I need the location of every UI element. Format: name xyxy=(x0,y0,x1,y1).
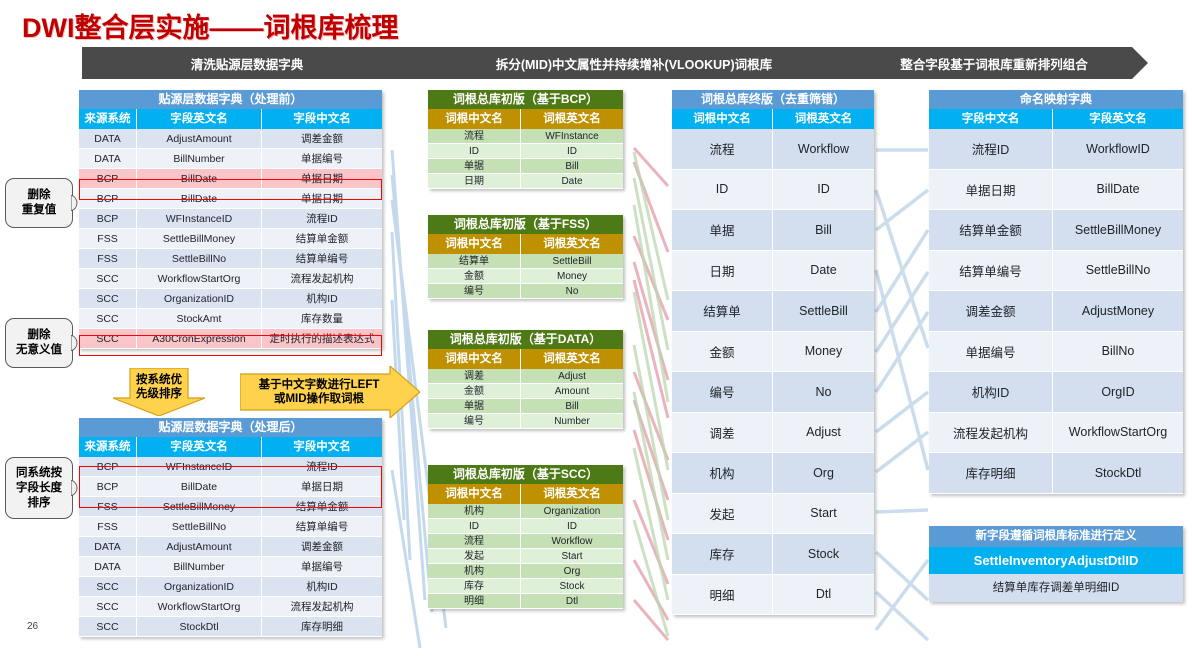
cell-en: Dtl xyxy=(773,575,874,616)
cell-cn: 结算单 xyxy=(672,291,773,332)
table-body: 流程WorkflowIDID单据Bill日期Date结算单SettleBill金… xyxy=(672,129,874,615)
table-row: 单据编号BillNo xyxy=(929,332,1183,373)
cell-en: SettleBill xyxy=(773,291,874,332)
roots-fss-table: 词根总库初版（基于FSS） 词根中文名 词根英文名 结算单SettleBill金… xyxy=(428,215,623,299)
cell-cn: 机构 xyxy=(428,564,521,579)
cell-cn: 日期 xyxy=(428,174,521,189)
col-header-source: 来源系统 xyxy=(79,437,137,457)
table-row: IDID xyxy=(672,170,874,211)
table-row: 结算单SettleBill xyxy=(428,254,623,269)
cell-source: BCP xyxy=(79,189,137,209)
cell-cn: 编号 xyxy=(428,414,521,429)
cell-cn: 流程 xyxy=(428,129,521,144)
callout-remove-duplicates: 删除 重复值 xyxy=(5,178,73,228)
cell-cn: 单据编号 xyxy=(262,149,382,169)
cell-source: SCC xyxy=(79,309,137,329)
band-step-3: 整合字段基于词根库重新排列组合 xyxy=(842,47,1132,79)
col-header-cn: 词根中文名 xyxy=(428,234,521,254)
col-header-cn: 字段中文名 xyxy=(929,109,1053,129)
table-body: 调差Adjust金额Amount单据Bill编号Number xyxy=(428,369,623,429)
callout-tail-icon xyxy=(71,335,83,351)
cell-source: SCC xyxy=(79,617,137,637)
cell-cn: 单据 xyxy=(672,210,773,251)
cell-en: StockDtl xyxy=(137,617,262,637)
table-row: 发起Start xyxy=(672,494,874,535)
cell-en: BillDate xyxy=(137,477,262,497)
cell-en: ID xyxy=(521,144,623,159)
table-row: BCPWFInstanceID流程ID xyxy=(79,457,382,477)
cell-en: Start xyxy=(773,494,874,535)
col-header-en: 词根英文名 xyxy=(773,109,874,129)
cell-cn: 结算单编号 xyxy=(929,251,1053,292)
cell-source: FSS xyxy=(79,249,137,269)
callout-line: 删除 xyxy=(28,188,51,203)
cell-source: DATA xyxy=(79,557,137,577)
cell-en: SettleBillMoney xyxy=(137,497,262,517)
cell-en: WorkflowID xyxy=(1053,129,1183,170)
cell-en: No xyxy=(773,372,874,413)
table-row: FSSSettleBillMoney结算单金额 xyxy=(79,229,382,249)
cell-en: SettleBill xyxy=(521,254,623,269)
cell-cn: 金额 xyxy=(428,384,521,399)
cell-en: Adjust xyxy=(773,413,874,454)
table-title: 词根总库初版（基于BCP） xyxy=(428,90,623,109)
cell-cn: 明细 xyxy=(672,575,773,616)
table-row: FSSSettleBillNo结算单编号 xyxy=(79,517,382,537)
table-header: 字段中文名 字段英文名 xyxy=(929,109,1183,129)
cell-en: OrgID xyxy=(1053,372,1183,413)
table-row: 单据Bill xyxy=(428,399,623,414)
col-header-en: 词根英文名 xyxy=(521,349,623,369)
table-row: 单据日期BillDate xyxy=(929,170,1183,211)
cell-cn: 金额 xyxy=(672,332,773,373)
cell-source: DATA xyxy=(79,537,137,557)
cell-cn: 流程ID xyxy=(929,129,1053,170)
cell-source: SCC xyxy=(79,597,137,617)
cell-en: Org xyxy=(773,453,874,494)
col-header-cn: 词根中文名 xyxy=(428,349,521,369)
table-row: 编号No xyxy=(672,372,874,413)
table-row: SCCStockAmt库存数量 xyxy=(79,309,382,329)
table-row: BCPBillDate单据日期 xyxy=(79,477,382,497)
table-row: 调差Adjust xyxy=(428,369,623,384)
cell-cn: 流程ID xyxy=(262,209,382,229)
cell-en: OrganizationID xyxy=(137,577,262,597)
cell-cn: 单据日期 xyxy=(262,189,382,209)
cell-cn: 机构 xyxy=(428,504,521,519)
cell-en: SettleBillMoney xyxy=(1053,210,1183,251)
table-header: 词根中文名 词根英文名 xyxy=(428,484,623,504)
callout-sort-by-length: 同系统按 字段长度 排序 xyxy=(5,457,73,519)
table-title: 词根总库初版（基于DATA） xyxy=(428,330,623,349)
cell-en: WFInstanceID xyxy=(137,457,262,477)
table-row: 机构Org xyxy=(672,453,874,494)
cell-cn: 流程ID xyxy=(262,457,382,477)
table-header: 来源系统 字段英文名 字段中文名 xyxy=(79,437,382,457)
cell-cn: 单据日期 xyxy=(929,170,1053,211)
col-header-en: 字段英文名 xyxy=(137,109,262,129)
table-row: 结算单SettleBill xyxy=(672,291,874,332)
table-row: 机构Org xyxy=(428,564,623,579)
cell-cn: 单据编号 xyxy=(929,332,1053,373)
col-header-cn: 字段中文名 xyxy=(262,109,382,129)
cell-cn: 调差 xyxy=(428,369,521,384)
table-row: 结算单编号SettleBillNo xyxy=(929,251,1183,292)
cell-en: Organization xyxy=(521,504,623,519)
cell-en: Org xyxy=(521,564,623,579)
table-row: 流程WFInstance xyxy=(428,129,623,144)
roots-scc-table: 词根总库初版（基于SCC） 词根中文名 词根英文名 机构Organization… xyxy=(428,465,623,609)
source-dict-before-table: 贴源层数据字典（处理前） 来源系统 字段英文名 字段中文名 DATAAdjust… xyxy=(79,90,382,349)
cell-cn: 流程发起机构 xyxy=(929,413,1053,454)
cell-en: WorkflowStartOrg xyxy=(137,597,262,617)
table-title: 贴源层数据字典（处理前） xyxy=(79,90,382,109)
cell-en: Bill xyxy=(773,210,874,251)
cell-cn: ID xyxy=(428,519,521,534)
naming-map-table: 命名映射字典 字段中文名 字段英文名 流程IDWorkflowID单据日期Bil… xyxy=(929,90,1183,494)
col-header-en: 词根英文名 xyxy=(521,234,623,254)
cell-cn: 定时执行的描述表达式 xyxy=(262,329,382,349)
cell-en: StockAmt xyxy=(137,309,262,329)
table-row: 发起Start xyxy=(428,549,623,564)
cell-cn: 编号 xyxy=(428,284,521,299)
cell-en: Stock xyxy=(773,534,874,575)
cell-cn: 结算单编号 xyxy=(262,249,382,269)
col-header-cn: 词根中文名 xyxy=(428,109,521,129)
table-row: 调差Adjust xyxy=(672,413,874,454)
cell-en: SettleBillNo xyxy=(137,517,262,537)
table-header: 词根中文名 词根英文名 xyxy=(672,109,874,129)
band-step-2-label: 拆分(MID)中文属性并持续增补(VLOOKUP)词根库 xyxy=(496,54,772,73)
table-body: 流程IDWorkflowID单据日期BillDate结算单金额SettleBil… xyxy=(929,129,1183,494)
cell-en: Bill xyxy=(521,159,623,174)
cell-en: Stock xyxy=(521,579,623,594)
arrow-line: 基于中文字数进行LEFT xyxy=(259,378,380,392)
col-header-en: 字段英文名 xyxy=(1053,109,1183,129)
cell-en: AdjustAmount xyxy=(137,537,262,557)
cell-cn: 单据 xyxy=(428,399,521,414)
table-header: 词根中文名 词根英文名 xyxy=(428,234,623,254)
cell-en: OrganizationID xyxy=(137,289,262,309)
cell-cn: ID xyxy=(672,170,773,211)
table-row: BCPBillDate单据日期 xyxy=(79,189,382,209)
cell-source: SCC xyxy=(79,269,137,289)
cell-cn: 库存数量 xyxy=(262,309,382,329)
table-row: BCPWFInstanceID流程ID xyxy=(79,209,382,229)
table-row: 库存Stock xyxy=(428,579,623,594)
new-field-value: SettleInventoryAdjustDtlID xyxy=(929,547,1183,574)
table-row: 明细Dtl xyxy=(428,594,623,609)
chevron-right-icon xyxy=(842,47,858,79)
table-row: 流程Workflow xyxy=(672,129,874,170)
table-body: 机构OrganizationIDID流程Workflow发起Start机构Org… xyxy=(428,504,623,609)
cell-cn: 发起 xyxy=(672,494,773,535)
cell-cn: 流程 xyxy=(428,534,521,549)
cell-en: BillDate xyxy=(137,169,262,189)
cell-cn: 结算单金额 xyxy=(262,229,382,249)
cell-cn: 流程发起机构 xyxy=(262,597,382,617)
cell-en: WFInstanceID xyxy=(137,209,262,229)
col-header-en: 词根英文名 xyxy=(521,484,623,504)
cell-en: StockDtl xyxy=(1053,453,1183,494)
band-step-2: 拆分(MID)中文属性并持续增补(VLOOKUP)词根库 xyxy=(412,47,842,79)
table-row: 单据Bill xyxy=(428,159,623,174)
table-header: 词根中文名 词根英文名 xyxy=(428,349,623,369)
callout-line: 排序 xyxy=(28,496,51,511)
col-header-cn: 词根中文名 xyxy=(428,484,521,504)
table-title: 贴源层数据字典（处理后） xyxy=(79,418,382,437)
callout-line: 重复值 xyxy=(22,203,57,218)
table-row: FSSSettleBillMoney结算单金额 xyxy=(79,497,382,517)
cell-en: A30CronExpression xyxy=(137,329,262,349)
source-dict-after-table: 贴源层数据字典（处理后） 来源系统 字段英文名 字段中文名 BCPWFInsta… xyxy=(79,418,382,637)
cell-en: SettleBillNo xyxy=(1053,251,1183,292)
cell-source: FSS xyxy=(79,497,137,517)
table-row: SCCOrganizationID机构ID xyxy=(79,289,382,309)
table-title: 命名映射字典 xyxy=(929,90,1183,109)
cell-en: Money xyxy=(521,269,623,284)
cell-en: SettleBillNo xyxy=(137,249,262,269)
cell-cn: 单据日期 xyxy=(262,477,382,497)
cell-en: BillNo xyxy=(1053,332,1183,373)
cell-en: Date xyxy=(521,174,623,189)
cell-cn: 库存 xyxy=(672,534,773,575)
cell-cn: 流程 xyxy=(672,129,773,170)
table-row: DATABillNumber单据编号 xyxy=(79,557,382,577)
table-header: 词根中文名 词根英文名 xyxy=(428,109,623,129)
callout-tail-icon xyxy=(71,195,83,211)
cell-cn: 结算单金额 xyxy=(262,497,382,517)
table-title: 词根总库初版（基于SCC） xyxy=(428,465,623,484)
table-row: 调差金额AdjustMoney xyxy=(929,291,1183,332)
table-row: 机构IDOrgID xyxy=(929,372,1183,413)
table-body: 结算单SettleBill金额Money编号No xyxy=(428,254,623,299)
table-row: FSSSettleBillNo结算单编号 xyxy=(79,249,382,269)
cell-en: ID xyxy=(773,170,874,211)
cell-en: WorkflowStartOrg xyxy=(1053,413,1183,454)
process-band: 清洗贴源层数据字典 拆分(MID)中文属性并持续增补(VLOOKUP)词根库 整… xyxy=(82,47,1132,79)
chevron-right-icon xyxy=(412,47,428,79)
table-row: 库存Stock xyxy=(672,534,874,575)
table-body: BCPWFInstanceID流程IDBCPBillDate单据日期FSSSet… xyxy=(79,457,382,637)
cell-cn: 日期 xyxy=(672,251,773,292)
arrow-label: 按系统优 先级排序 xyxy=(113,368,205,416)
col-header-cn: 词根中文名 xyxy=(672,109,773,129)
arrow-line: 按系统优 xyxy=(136,373,182,387)
cell-cn: 库存明细 xyxy=(929,453,1053,494)
cell-cn: 结算单 xyxy=(428,254,521,269)
cell-en: BillDate xyxy=(137,189,262,209)
table-row: 流程发起机构WorkflowStartOrg xyxy=(929,413,1183,454)
table-row: 流程Workflow xyxy=(428,534,623,549)
arrow-label: 基于中文字数进行LEFT 或MID操作取词根 xyxy=(240,366,420,418)
chevron-right-icon xyxy=(1132,47,1148,79)
cell-cn: 库存明细 xyxy=(262,617,382,637)
roots-data-table: 词根总库初版（基于DATA） 词根中文名 词根英文名 调差Adjust金额Amo… xyxy=(428,330,623,429)
cell-en: WFInstance xyxy=(521,129,623,144)
table-row: DATAAdjustAmount调差金额 xyxy=(79,129,382,149)
cell-cn: 调差金额 xyxy=(262,129,382,149)
table-row: BCPBillDate单据日期 xyxy=(79,169,382,189)
cell-cn: 机构ID xyxy=(262,577,382,597)
table-row: 编号No xyxy=(428,284,623,299)
cell-source: BCP xyxy=(79,209,137,229)
table-row: 单据Bill xyxy=(672,210,874,251)
callout-tail-icon xyxy=(71,480,83,496)
cell-en: Adjust xyxy=(521,369,623,384)
table-row: SCCWorkflowStartOrg流程发起机构 xyxy=(79,597,382,617)
page-number: 26 xyxy=(27,621,38,632)
cell-en: Money xyxy=(773,332,874,373)
cell-cn: 库存 xyxy=(428,579,521,594)
cell-en: Bill xyxy=(521,399,623,414)
cell-source: SCC xyxy=(79,577,137,597)
band-step-1-label: 清洗贴源层数据字典 xyxy=(191,54,304,73)
table-row: DATAAdjustAmount调差金额 xyxy=(79,537,382,557)
table-title: 词根总库终版（去重筛错） xyxy=(672,90,874,109)
col-header-source: 来源系统 xyxy=(79,109,137,129)
arrow-line: 先级排序 xyxy=(136,387,182,401)
table-row: SCCStockDtl库存明细 xyxy=(79,617,382,637)
cell-cn: 机构ID xyxy=(929,372,1053,413)
cell-source: DATA xyxy=(79,149,137,169)
cell-en: AdjustMoney xyxy=(1053,291,1183,332)
cell-cn: 编号 xyxy=(672,372,773,413)
col-header-en: 字段英文名 xyxy=(137,437,262,457)
table-row: 机构Organization xyxy=(428,504,623,519)
table-row: 流程IDWorkflowID xyxy=(929,129,1183,170)
table-row: 日期Date xyxy=(672,251,874,292)
table-row: SCCOrganizationID机构ID xyxy=(79,577,382,597)
cell-cn: ID xyxy=(428,144,521,159)
band-step-1: 清洗贴源层数据字典 xyxy=(82,47,412,79)
table-row: 日期Date xyxy=(428,174,623,189)
page-title: DWI整合层实施——词根库梳理 xyxy=(22,6,398,45)
cell-en: Workflow xyxy=(521,534,623,549)
new-field-title: 新字段遵循词根库标准进行定义 xyxy=(929,526,1183,547)
cell-source: SCC xyxy=(79,329,137,349)
cell-source: SCC xyxy=(79,289,137,309)
callout-remove-meaningless: 删除 无意义值 xyxy=(5,318,73,368)
cell-cn: 单据编号 xyxy=(262,557,382,577)
table-row: 库存明细StockDtl xyxy=(929,453,1183,494)
table-title: 词根总库初版（基于FSS） xyxy=(428,215,623,234)
cell-en: SettleBillMoney xyxy=(137,229,262,249)
table-body: 流程WFInstanceIDID单据Bill日期Date xyxy=(428,129,623,189)
callout-line: 删除 xyxy=(28,328,51,343)
cell-source: FSS xyxy=(79,517,137,537)
cell-cn: 机构 xyxy=(672,453,773,494)
arrow-sort-by-system-priority: 按系统优 先级排序 xyxy=(113,368,205,416)
table-row: DATABillNumber单据编号 xyxy=(79,149,382,169)
table-body: DATAAdjustAmount调差金额DATABillNumber单据编号BC… xyxy=(79,129,382,349)
cell-cn: 发起 xyxy=(428,549,521,564)
cell-source: DATA xyxy=(79,129,137,149)
cell-en: Amount xyxy=(521,384,623,399)
cell-en: No xyxy=(521,284,623,299)
new-field-card: 新字段遵循词根库标准进行定义 SettleInventoryAdjustDtlI… xyxy=(929,526,1183,602)
arrow-left-mid-extract-root: 基于中文字数进行LEFT 或MID操作取词根 xyxy=(240,366,420,418)
callout-line: 同系统按 xyxy=(16,466,62,481)
cell-cn: 结算单金额 xyxy=(929,210,1053,251)
table-row: 编号Number xyxy=(428,414,623,429)
cell-en: BillDate xyxy=(1053,170,1183,211)
cell-cn: 机构ID xyxy=(262,289,382,309)
cell-source: BCP xyxy=(79,169,137,189)
col-header-en: 词根英文名 xyxy=(521,109,623,129)
cell-en: AdjustAmount xyxy=(137,129,262,149)
cell-source: BCP xyxy=(79,477,137,497)
cell-en: ID xyxy=(521,519,623,534)
table-row: SCCA30CronExpression定时执行的描述表达式 xyxy=(79,329,382,349)
band-step-3-label: 整合字段基于词根库重新排列组合 xyxy=(900,54,1088,73)
cell-en: BillNumber xyxy=(137,149,262,169)
table-row: SCCWorkflowStartOrg流程发起机构 xyxy=(79,269,382,289)
cell-en: Workflow xyxy=(773,129,874,170)
cell-cn: 单据日期 xyxy=(262,169,382,189)
cell-cn: 调差金额 xyxy=(929,291,1053,332)
cell-en: Date xyxy=(773,251,874,292)
new-field-sub: 结算单库存调差单明细ID xyxy=(929,574,1183,602)
table-row: IDID xyxy=(428,144,623,159)
cell-cn: 单据 xyxy=(428,159,521,174)
arrow-line: 或MID操作取词根 xyxy=(274,392,364,406)
table-row: IDID xyxy=(428,519,623,534)
roots-final-table: 词根总库终版（去重筛错） 词根中文名 词根英文名 流程WorkflowIDID单… xyxy=(672,90,874,615)
table-row: 明细Dtl xyxy=(672,575,874,616)
cell-cn: 调差金额 xyxy=(262,537,382,557)
cell-en: WorkflowStartOrg xyxy=(137,269,262,289)
cell-cn: 调差 xyxy=(672,413,773,454)
cell-en: Number xyxy=(521,414,623,429)
callout-line: 无意义值 xyxy=(16,343,62,358)
cell-source: FSS xyxy=(79,229,137,249)
table-row: 金额Money xyxy=(672,332,874,373)
table-row: 结算单金额SettleBillMoney xyxy=(929,210,1183,251)
cell-en: BillNumber xyxy=(137,557,262,577)
cell-source: BCP xyxy=(79,457,137,477)
cell-cn: 金额 xyxy=(428,269,521,284)
cell-cn: 流程发起机构 xyxy=(262,269,382,289)
table-header: 来源系统 字段英文名 字段中文名 xyxy=(79,109,382,129)
cell-en: Start xyxy=(521,549,623,564)
cell-cn: 明细 xyxy=(428,594,521,609)
cell-cn: 结算单编号 xyxy=(262,517,382,537)
roots-bcp-table: 词根总库初版（基于BCP） 词根中文名 词根英文名 流程WFInstanceID… xyxy=(428,90,623,189)
table-row: 金额Amount xyxy=(428,384,623,399)
cell-en: Dtl xyxy=(521,594,623,609)
callout-line: 字段长度 xyxy=(16,481,62,496)
col-header-cn: 字段中文名 xyxy=(262,437,382,457)
table-row: 金额Money xyxy=(428,269,623,284)
